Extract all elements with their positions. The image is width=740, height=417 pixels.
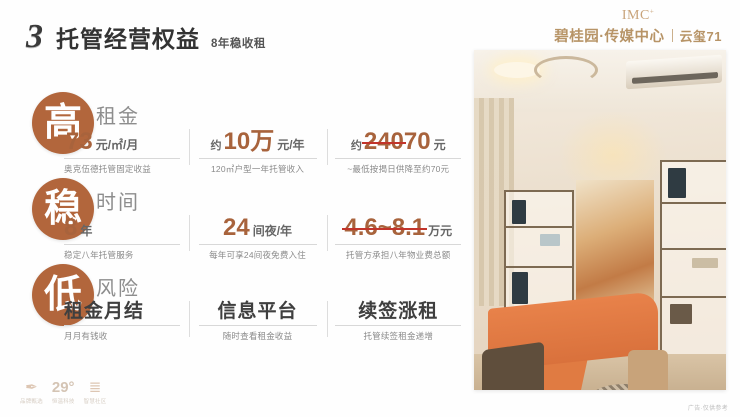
metric-prefix: 约 <box>211 140 222 152</box>
metric-value: 约24070元 <box>333 130 465 158</box>
page-subtitle: 8年稳收租 <box>211 35 266 51</box>
cabinet-shelf <box>662 202 726 204</box>
metric-number: 信息平台 <box>218 301 298 322</box>
page-header: 3 托管经营权益 8年稳收租 <box>26 20 266 54</box>
metric-number: 24 <box>223 214 250 241</box>
disclaimer-text: 广告·仅供参考 <box>688 403 728 412</box>
metric-unit: 万元 <box>428 224 452 238</box>
shelf-object <box>540 234 560 246</box>
slide-root: 3 托管经营权益 8年稳收租 IMC+ 碧桂园·传媒中心 云玺71 高 租金 7… <box>0 0 740 417</box>
row-category-label: 时间 <box>96 186 140 215</box>
metric-rule <box>335 325 461 326</box>
metric-rule <box>335 158 461 159</box>
grid-icon: ≣ <box>89 380 102 395</box>
metric-value: 续签涨租 <box>333 302 465 325</box>
benefit-row: 高 租金 73元/㎡/月 奥克伍德托管固定收益 约10万元/年 120㎡户型一年… <box>0 86 470 172</box>
metric-number: 续签涨租 <box>358 301 438 322</box>
temperature-icon: 29° <box>52 380 75 395</box>
benefit-row: 稳 时间 8年 稳定八年托管服务 24间夜/年 每年可享24间夜免费入住 <box>0 172 470 258</box>
metric-caption: 月月有钱收 <box>64 330 183 342</box>
metric-caption: 随时查看租金收益 <box>195 330 321 342</box>
metric-number: 73 <box>66 128 93 155</box>
shelf-books <box>512 272 528 304</box>
metric-rule <box>64 158 180 159</box>
metric-cell: 73元/㎡/月 奥克伍德托管固定收益 <box>60 130 189 175</box>
shelf-books <box>512 200 526 224</box>
row-columns: 租金月结 月月有钱收 信息平台 随时查看租金收益 续签涨租 <box>60 302 470 342</box>
logo-divider <box>672 29 673 42</box>
metric-unit: 间夜/年 <box>253 224 292 238</box>
logo-primary-name: 碧桂园·传媒中心 <box>554 25 664 46</box>
row-category-label: 租金 <box>96 100 140 129</box>
page-title: 托管经营权益 <box>56 28 200 51</box>
row-category-label: 风险 <box>96 272 140 301</box>
round-stool <box>628 350 668 390</box>
footer-badge-label: 智慧社区 <box>84 397 107 405</box>
metric-value: 8年 <box>64 216 183 244</box>
footer-badge: ≣ 智慧社区 <box>84 380 107 405</box>
metric-value: 24间夜/年 <box>195 216 321 244</box>
metric-rule <box>199 325 317 326</box>
metric-number: 租金月结 <box>64 301 144 322</box>
metric-number: 70 <box>404 128 431 155</box>
metric-old-value: 240 <box>364 128 404 155</box>
shelf-books <box>668 168 686 198</box>
metric-rule <box>199 158 317 159</box>
logo-text-row: 碧桂园·传媒中心 云玺71 <box>554 25 722 46</box>
cabinet-shelf <box>506 266 572 268</box>
metric-cell: 续签涨租 托管续签租金递增 <box>327 302 471 342</box>
metric-cell: 4.6~8.1万元 托管方承担八年物业费总额 <box>327 216 471 261</box>
shelf-object <box>670 304 692 324</box>
metric-unit: 元/年 <box>277 138 304 152</box>
metric-cell: 约10万元/年 120㎡户型一年托管收入 <box>189 130 327 175</box>
metric-number: 4.6~8.1 <box>344 214 425 241</box>
logo-mark-sup: + <box>650 7 654 15</box>
benefit-rows: 高 租金 73元/㎡/月 奥克伍德托管固定收益 约10万元/年 120㎡户型一年… <box>0 86 470 344</box>
logo-mark-text: IMC <box>622 8 650 23</box>
logo-project-name: 云玺71 <box>680 26 722 45</box>
metric-value: 73元/㎡/月 <box>64 130 183 158</box>
footer-badge: ✒ 品牌甄选 <box>20 380 43 405</box>
metric-rule <box>199 244 317 245</box>
display-cabinet-right <box>660 160 726 374</box>
metric-value: 信息平台 <box>195 302 321 325</box>
shelf-object <box>692 258 718 268</box>
cabinet-shelf <box>662 248 726 250</box>
pen-icon: ✒ <box>25 380 38 395</box>
row-columns: 8年 稳定八年托管服务 24间夜/年 每年可享24间夜免费入住 4.6~8.1万… <box>60 216 470 261</box>
metric-cell: 约24070元 ~最低按揭日供降至约70元 <box>327 130 471 175</box>
metric-value: 约10万元/年 <box>195 130 321 158</box>
footer-badge-label: 恒温科技 <box>52 397 75 405</box>
metric-cell: 8年 稳定八年托管服务 <box>60 216 189 261</box>
metric-cell: 租金月结 月月有钱收 <box>60 302 189 342</box>
metric-cell: 信息平台 随时查看租金收益 <box>189 302 327 342</box>
cabinet-shelf <box>506 226 572 228</box>
footer-badge-label: 品牌甄选 <box>20 397 43 405</box>
desk-chair <box>482 342 544 390</box>
metric-prefix: 约 <box>351 140 362 152</box>
metric-rule <box>64 244 180 245</box>
logo-mark: IMC+ <box>554 8 722 23</box>
metric-rule <box>64 325 180 326</box>
metric-number: 8 <box>64 214 77 241</box>
metric-unit: 元/㎡/月 <box>96 138 139 152</box>
section-number: 3 <box>26 20 43 54</box>
metric-number: 10万 <box>224 128 275 155</box>
row-columns: 73元/㎡/月 奥克伍德托管固定收益 约10万元/年 120㎡户型一年托管收入 … <box>60 130 470 175</box>
benefit-row: 低 风险 租金月结 月月有钱收 信息平台 随时查看租金收益 <box>0 258 470 344</box>
ceiling-ring-decor <box>534 56 598 84</box>
brand-logo: IMC+ 碧桂园·传媒中心 云玺71 <box>554 8 722 46</box>
landscape-mural <box>576 180 654 310</box>
metric-value: 4.6~8.1万元 <box>333 216 465 244</box>
footer-badges: ✒ 品牌甄选 29° 恒温科技 ≣ 智慧社区 <box>20 380 106 405</box>
footer-badge: 29° 恒温科技 <box>52 380 75 405</box>
showroom-photo <box>474 50 726 390</box>
metric-unit: 年 <box>80 224 92 238</box>
metric-cell: 24间夜/年 每年可享24间夜免费入住 <box>189 216 327 261</box>
metric-caption: 托管续签租金递增 <box>333 330 465 342</box>
metric-value: 租金月结 <box>64 302 183 325</box>
metric-unit: 元 <box>434 138 446 152</box>
metric-rule <box>335 244 461 245</box>
cabinet-shelf <box>662 296 726 298</box>
